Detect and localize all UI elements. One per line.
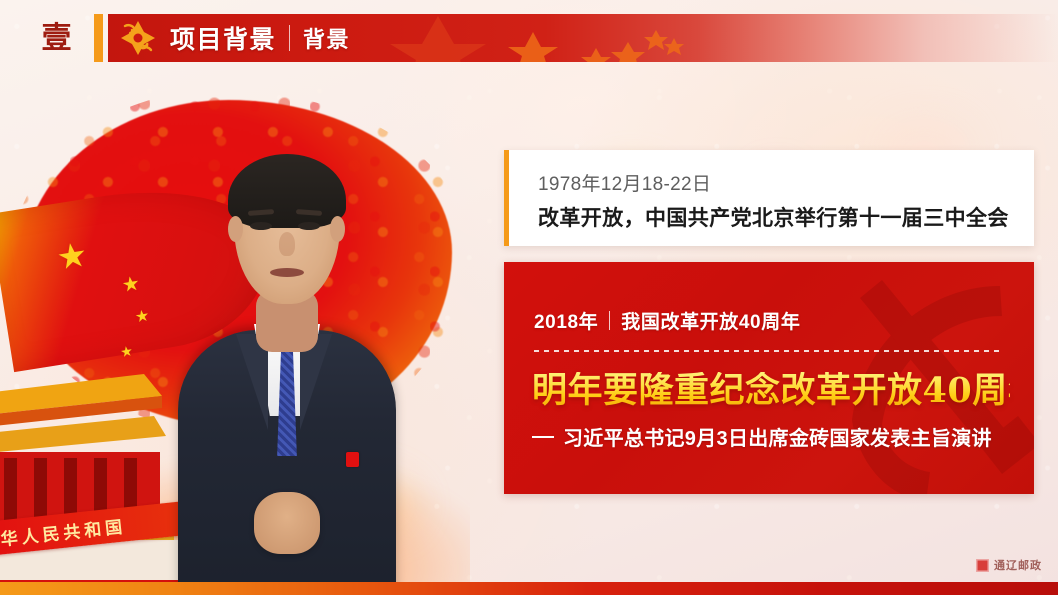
flag-star: ★ — [120, 274, 141, 297]
quote-card-eyebrow: 2018年 我国改革开放40周年 — [534, 307, 800, 334]
portrait-lapel-badge — [346, 452, 359, 467]
portrait-hands — [254, 492, 320, 554]
header-subtitle: 背景 — [303, 22, 350, 54]
section-number: 壹 — [26, 16, 88, 62]
brand-watermark: 通辽邮政 — [976, 557, 1042, 573]
portrait-ear — [228, 216, 243, 242]
post-logo-icon — [976, 559, 989, 572]
dotted-divider — [534, 350, 1002, 352]
flag-star: ★ — [54, 237, 89, 275]
fact-card-title: 改革开放，中国共产党北京举行第十一届三中全会 — [538, 202, 1009, 232]
header-title-bar: 项目背景 背景 — [108, 14, 1058, 62]
fact-card-date: 1978年12月18-22日 — [538, 169, 711, 196]
brand-name: 通辽邮政 — [994, 557, 1042, 573]
footer-accent-bar — [0, 582, 1058, 595]
attribution-text: 习近平总书记9月3日出席金砖国家发表主旨演讲 — [563, 422, 992, 451]
attribution-dash — [532, 436, 554, 438]
header-accent-tick — [94, 14, 103, 62]
fact-card-white: 1978年12月18-22日 改革开放，中国共产党北京举行第十一届三中全会 — [504, 150, 1034, 246]
quote-card-content: 2018年 我国改革开放40周年 明年要隆重纪念改革开放40周年 习近平总书记9… — [504, 262, 1034, 494]
portrait-eye — [298, 222, 320, 230]
card-accent-bar — [504, 150, 509, 246]
quote-headline: 明年要隆重纪念改革开放40周年 — [532, 372, 1010, 411]
quote-attribution: 习近平总书记9月3日出席金砖国家发表主旨演讲 — [532, 422, 1018, 451]
flag-star: ★ — [119, 343, 134, 359]
header-title-group: 项目背景 背景 — [170, 14, 350, 62]
eyebrow-separator — [609, 311, 610, 330]
chinese-cloud-ornament-icon — [118, 18, 158, 58]
eyebrow-text: 我国改革开放40周年 — [621, 307, 800, 334]
portrait-figure — [150, 92, 420, 595]
portrait-nose — [279, 232, 295, 256]
portrait-ear — [330, 216, 345, 242]
header-title: 项目背景 — [170, 20, 276, 56]
left-visual-group: ★ ★ ★ ★ — [0, 62, 470, 595]
portrait-hair — [228, 154, 346, 228]
quote-card-red: 2018年 我国改革开放40周年 明年要隆重纪念改革开放40周年 习近平总书记9… — [504, 262, 1034, 494]
portrait-mouth — [270, 268, 304, 277]
portrait-eye — [250, 222, 272, 230]
header-separator — [289, 25, 290, 51]
slide-canvas: 壹 — [0, 0, 1058, 595]
flag-star: ★ — [134, 308, 151, 326]
eyebrow-year: 2018年 — [534, 307, 598, 334]
